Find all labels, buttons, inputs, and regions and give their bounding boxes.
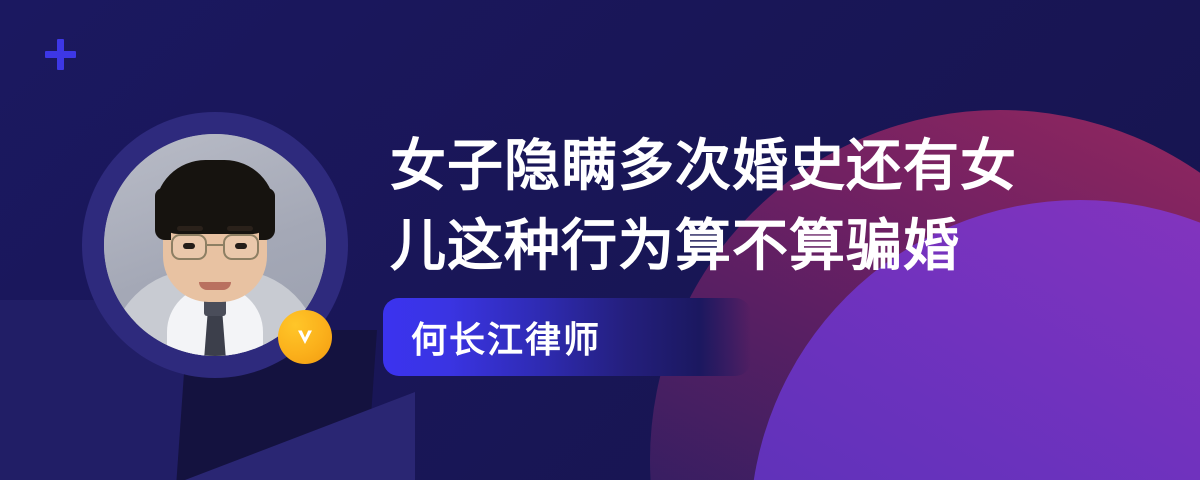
lawyer-name-label: 何长江律师 [411, 311, 601, 363]
lawyer-video-banner: 女子隐瞒多次婚史还有女 儿这种行为算不算骗婚 何长江律师 [0, 0, 1200, 480]
page-title: 女子隐瞒多次婚史还有女 儿这种行为算不算骗婚 [390, 126, 1090, 285]
lawyer-name-badge: 何长江律师 [383, 298, 751, 376]
plus-icon [45, 39, 76, 70]
avatar [82, 112, 348, 378]
decor-triangle [185, 392, 415, 480]
verified-badge-icon [278, 310, 332, 364]
